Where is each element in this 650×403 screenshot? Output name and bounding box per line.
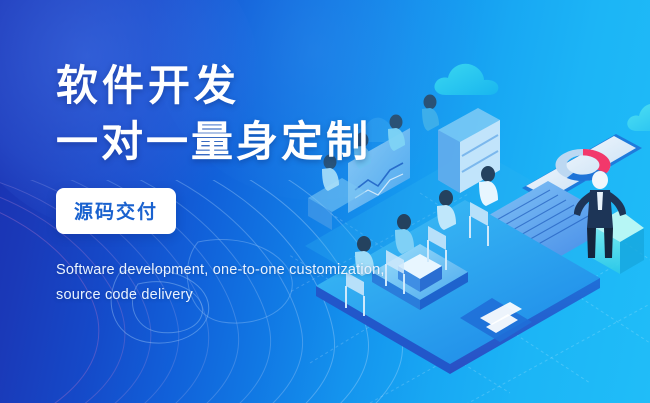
headline-line-2: 一对一量身定制 bbox=[56, 114, 386, 170]
promo-banner: 软件开发 一对一量身定制 源码交付 Software development, … bbox=[0, 0, 650, 403]
subtitle-line-2: source code delivery bbox=[56, 283, 356, 308]
text-content: 软件开发 一对一量身定制 源码交付 Software development, … bbox=[56, 58, 386, 308]
subtitle-block: Software development, one-to-one customi… bbox=[56, 258, 356, 308]
source-code-delivery-button[interactable]: 源码交付 bbox=[56, 188, 176, 234]
headline-line-1: 软件开发 bbox=[56, 58, 386, 114]
subtitle-line-1: Software development, one-to-one customi… bbox=[56, 258, 356, 283]
